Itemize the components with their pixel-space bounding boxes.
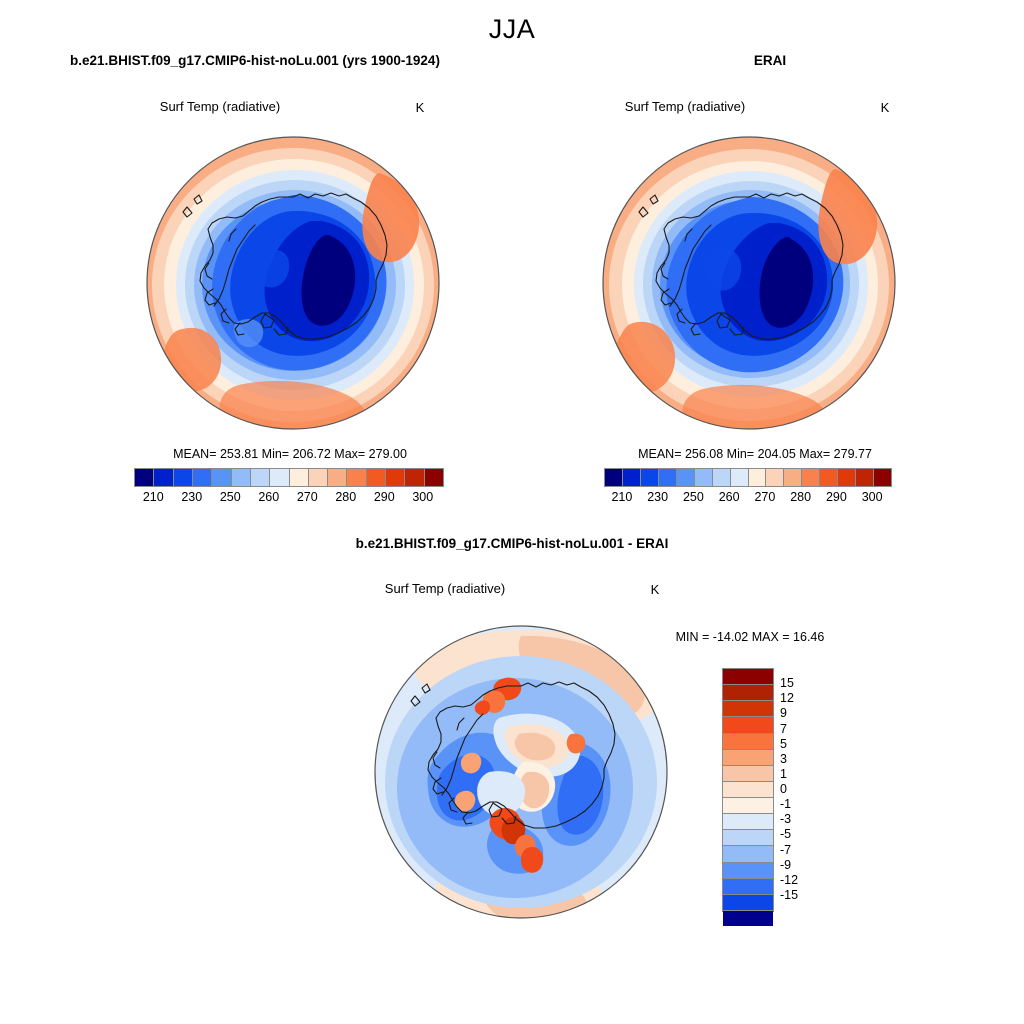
- obs-colorbar-tick: 270: [754, 490, 775, 504]
- diff-unit-label: K: [635, 582, 675, 597]
- obs-colorbar-tick: 280: [790, 490, 811, 504]
- obs-colorbar-ticks: 210230250260270280290300: [604, 490, 890, 508]
- model-colorbar-ticks: 210230250260270280290300: [134, 490, 442, 508]
- model-colorbar-segment: [193, 469, 212, 486]
- diff-colorbar-segment: [723, 798, 773, 814]
- model-colorbar-tick: 250: [220, 490, 241, 504]
- diff-colorbar-tick: 5: [780, 737, 787, 751]
- model-panel-title: b.e21.BHIST.f09_g17.CMIP6-hist-noLu.001 …: [20, 53, 490, 68]
- diff-colorbar-tick: -5: [780, 827, 791, 841]
- diff-colorbar-tick: -7: [780, 843, 791, 857]
- diff-colorbar-tick: 1: [780, 767, 787, 781]
- diff-colorbar-segment: [723, 734, 773, 750]
- model-colorbar-segment: [405, 469, 424, 486]
- obs-colorbar-tick: 230: [647, 490, 668, 504]
- obs-colorbar-segment: [659, 469, 677, 486]
- diff-colorbar-tick: 12: [780, 691, 794, 705]
- diff-colorbar-segment: [723, 717, 773, 733]
- diff-colorbar-segment: [723, 782, 773, 798]
- model-colorbar-tick: 280: [335, 490, 356, 504]
- diff-colorbar-segment: [723, 814, 773, 830]
- figure-canvas: JJA b.e21.BHIST.f09_g17.CMIP6-hist-noLu.…: [0, 0, 1024, 1024]
- obs-colorbar-segment: [605, 469, 623, 486]
- obs-variable-label: Surf Temp (radiative): [535, 99, 835, 114]
- model-colorbar-tick: 210: [143, 490, 164, 504]
- obs-colorbar-segment: [677, 469, 695, 486]
- obs-colorbar-segment: [731, 469, 749, 486]
- diff-colorbar-tick: -12: [780, 873, 798, 887]
- diff-colorbar-tick: 0: [780, 782, 787, 796]
- obs-colorbar-segment: [749, 469, 767, 486]
- obs-polar-map[interactable]: [599, 133, 899, 433]
- obs-colorbar-segment: [695, 469, 713, 486]
- diff-polar-map[interactable]: [371, 622, 671, 922]
- model-variable-label: Surf Temp (radiative): [70, 99, 370, 114]
- diff-colorbar-segment: [723, 846, 773, 862]
- model-stats-label: MEAN= 253.81 Min= 206.72 Max= 279.00: [115, 447, 465, 461]
- model-polar-map[interactable]: [143, 133, 443, 433]
- model-colorbar-segment: [290, 469, 309, 486]
- obs-stats-label: MEAN= 256.08 Min= 204.05 Max= 279.77: [580, 447, 930, 461]
- diff-panel-title: b.e21.BHIST.f09_g17.CMIP6-hist-noLu.001 …: [262, 536, 762, 551]
- diff-colorbar-segment: [723, 669, 773, 685]
- obs-colorbar-segment: [766, 469, 784, 486]
- model-colorbar-tick: 260: [258, 490, 279, 504]
- model-colorbar-tick: 270: [297, 490, 318, 504]
- diff-colorbar-segment: [723, 830, 773, 846]
- obs-colorbar[interactable]: [604, 468, 892, 487]
- model-colorbar-segment: [154, 469, 173, 486]
- diff-colorbar-segment: [723, 766, 773, 782]
- obs-colorbar-tick: 260: [719, 490, 740, 504]
- obs-colorbar-segment: [713, 469, 731, 486]
- diff-colorbar-tick: -15: [780, 888, 798, 902]
- season-title: JJA: [0, 14, 1024, 45]
- model-colorbar-segment: [212, 469, 231, 486]
- model-colorbar[interactable]: [134, 468, 444, 487]
- obs-colorbar-segment: [838, 469, 856, 486]
- diff-colorbar-tick: 3: [780, 752, 787, 766]
- model-colorbar-segment: [425, 469, 443, 486]
- model-colorbar-segment: [135, 469, 154, 486]
- diff-colorbar-tick: -1: [780, 797, 791, 811]
- diff-colorbar-segment: [723, 685, 773, 701]
- diff-colorbar-segment: [723, 701, 773, 717]
- model-colorbar-segment: [251, 469, 270, 486]
- obs-colorbar-segment: [820, 469, 838, 486]
- obs-colorbar-tick: 210: [611, 490, 632, 504]
- model-colorbar-segment: [309, 469, 328, 486]
- model-colorbar-tick: 230: [181, 490, 202, 504]
- model-colorbar-segment: [232, 469, 251, 486]
- diff-colorbar-segment: [723, 863, 773, 879]
- model-colorbar-segment: [386, 469, 405, 486]
- model-colorbar-segment: [270, 469, 289, 486]
- model-colorbar-segment: [328, 469, 347, 486]
- model-colorbar-segment: [347, 469, 366, 486]
- obs-colorbar-segment: [874, 469, 891, 486]
- obs-colorbar-tick: 250: [683, 490, 704, 504]
- obs-unit-label: K: [865, 100, 905, 115]
- model-unit-label: K: [400, 100, 440, 115]
- obs-colorbar-segment: [641, 469, 659, 486]
- obs-colorbar-segment: [856, 469, 874, 486]
- diff-colorbar-segment: [723, 895, 773, 911]
- obs-colorbar-tick: 300: [862, 490, 883, 504]
- obs-colorbar-segment: [623, 469, 641, 486]
- model-colorbar-tick: 290: [374, 490, 395, 504]
- obs-panel-title: ERAI: [560, 53, 980, 68]
- diff-colorbar[interactable]: [722, 668, 774, 912]
- obs-colorbar-tick: 290: [826, 490, 847, 504]
- model-colorbar-segment: [174, 469, 193, 486]
- obs-colorbar-segment: [802, 469, 820, 486]
- diff-colorbar-tick: -9: [780, 858, 791, 872]
- diff-colorbar-segment: [723, 879, 773, 895]
- diff-colorbar-segment: [723, 911, 773, 926]
- diff-colorbar-segment: [723, 750, 773, 766]
- obs-colorbar-segment: [784, 469, 802, 486]
- diff-colorbar-tick: 9: [780, 706, 787, 720]
- model-colorbar-tick: 300: [412, 490, 433, 504]
- diff-colorbar-tick: 15: [780, 676, 794, 690]
- model-colorbar-segment: [367, 469, 386, 486]
- diff-colorbar-tick: 7: [780, 722, 787, 736]
- diff-variable-label: Surf Temp (radiative): [295, 581, 595, 596]
- diff-colorbar-tick: -3: [780, 812, 791, 826]
